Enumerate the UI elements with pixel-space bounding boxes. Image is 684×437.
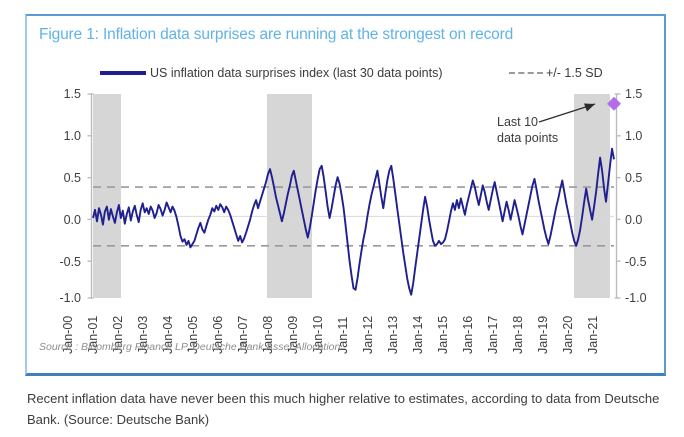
annotation-line-2: data points <box>497 130 558 146</box>
x-axis-label-jan-15: Jan-15 <box>436 316 450 354</box>
figure-caption: Recent inflation data have never been th… <box>27 388 667 430</box>
x-axis-label-jan-21: Jan-21 <box>586 316 600 354</box>
y-axis-right-label-neg1_0: -1.0 <box>625 291 657 305</box>
x-axis-label-jan-20: Jan-20 <box>561 316 575 354</box>
left-axis <box>88 94 94 298</box>
y-axis-right-label-0_0: 0.0 <box>625 213 657 227</box>
y-axis-right-label-1_5: 1.5 <box>625 87 657 101</box>
x-axis-label-jan-16: Jan-16 <box>461 316 475 354</box>
x-axis-label-jan-13: Jan-13 <box>386 316 400 354</box>
x-axis-label-jan-18: Jan-18 <box>511 316 525 354</box>
y-axis-left-label-neg1_0: -1.0 <box>49 291 81 305</box>
recession-band-2001 <box>93 94 121 298</box>
y-axis-right-label-1_0: 1.0 <box>625 129 657 143</box>
plot-area: 1.5 1.0 0.5 0.0 -0.5 -1.0 1.5 1.0 0.5 0.… <box>27 16 668 378</box>
y-axis-left-label-0_5: 0.5 <box>49 171 81 185</box>
annotation-line-1: Last 10 <box>497 114 558 130</box>
x-axis-label-jan-14: Jan-14 <box>411 316 425 354</box>
y-axis-left-label-0_0: 0.0 <box>49 213 81 227</box>
y-axis-left-label-1_0: 1.0 <box>49 129 81 143</box>
y-axis-left-label-neg0_5: -0.5 <box>49 255 81 269</box>
figure-panel: Figure 1: Inflation data surprises are r… <box>25 14 666 376</box>
x-axis-label-jan-19: Jan-19 <box>536 316 550 354</box>
annotation-last-10-data-points: Last 10 data points <box>497 114 558 146</box>
right-axis <box>615 94 621 298</box>
recession-band-2008 <box>267 94 312 298</box>
x-axis-label-jan-12: Jan-12 <box>361 316 375 354</box>
y-axis-left-label-1_5: 1.5 <box>49 87 81 101</box>
y-axis-right-label-0_5: 0.5 <box>625 171 657 185</box>
x-axis-label-jan-17: Jan-17 <box>486 316 500 354</box>
y-axis-right-label-neg0_5: -0.5 <box>625 255 657 269</box>
source-note: Source : Bloomberg Finance LP, Deutsche … <box>39 341 340 353</box>
figure-screenshot: Figure 1: Inflation data surprises are r… <box>0 0 684 437</box>
series-line-us-inflation-surprises <box>93 149 614 295</box>
